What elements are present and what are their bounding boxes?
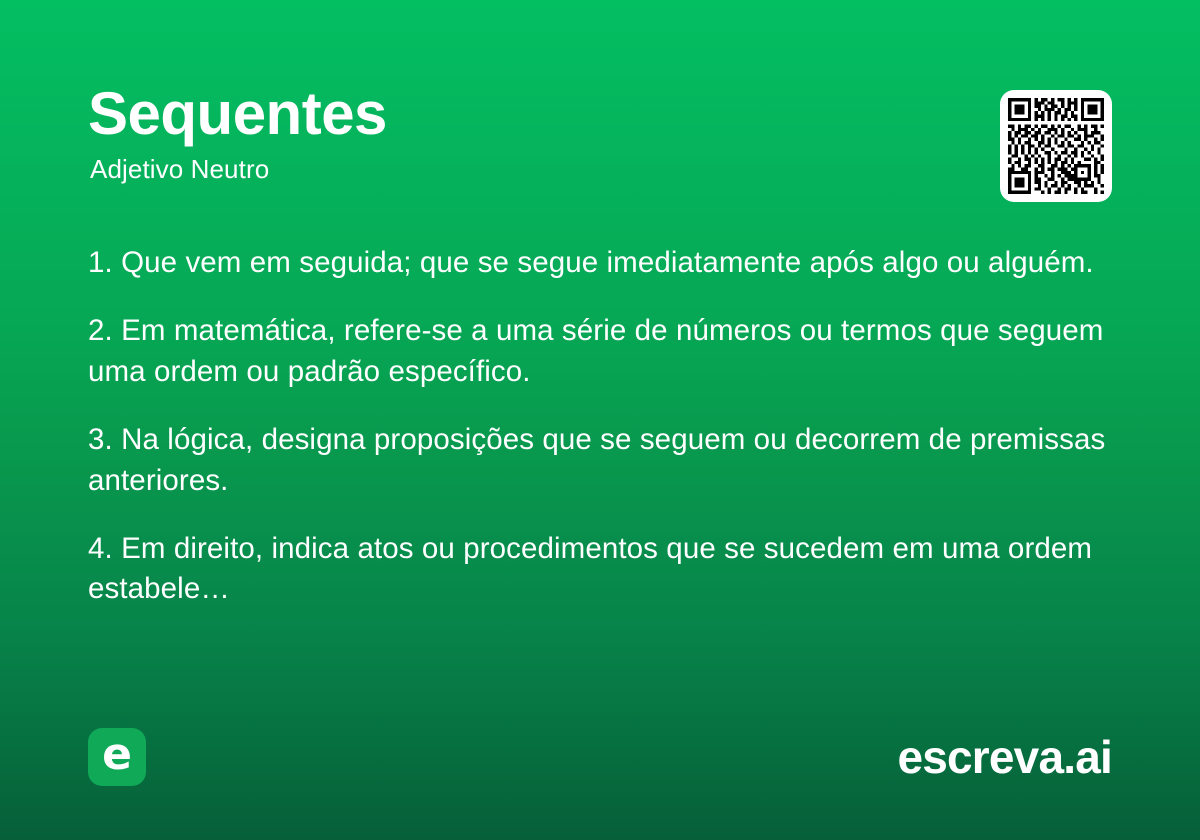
qr-code-icon[interactable] <box>1000 90 1112 202</box>
definition-item: 3. Na lógica, designa proposições que se… <box>88 420 1110 501</box>
card-footer: e escreva.ai <box>88 726 1112 788</box>
definition-list: 1. Que vem em seguida; que se segue imed… <box>88 243 1110 610</box>
definition-item: 1. Que vem em seguida; que se segue imed… <box>88 243 1110 283</box>
definition-item: 4. Em direito, indica atos ou procedimen… <box>88 529 1110 610</box>
escreva-logo-icon[interactable]: e <box>88 728 146 786</box>
page-title: Sequentes <box>88 82 387 147</box>
dictionary-card: Sequentes Adjetivo Neutro <box>0 0 1200 840</box>
title-block: Sequentes Adjetivo Neutro <box>88 82 387 183</box>
word-class-label: Adjetivo Neutro <box>90 155 387 184</box>
definition-item: 2. Em matemática, refere-se a uma série … <box>88 311 1110 392</box>
card-header: Sequentes Adjetivo Neutro <box>88 82 1112 202</box>
logo-letter: e <box>102 733 132 777</box>
brand-name: escreva.ai <box>897 734 1112 780</box>
